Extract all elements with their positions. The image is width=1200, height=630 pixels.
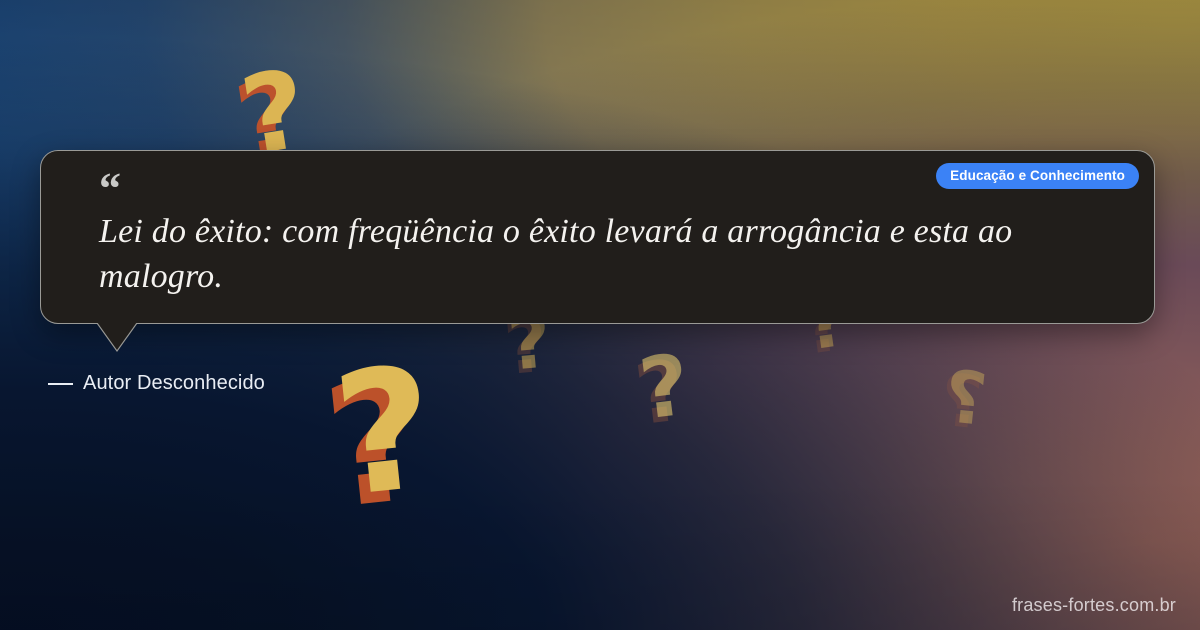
quote-card: Educação e Conhecimento “ Lei do êxito: … [40,150,1155,324]
author-dash-icon [48,383,73,385]
quote-text: Lei do êxito: com freqüência o êxito lev… [99,209,1124,299]
author-name: Autor Desconhecido [83,372,265,395]
site-watermark: frases-fortes.com.br [1012,595,1176,616]
quote-image-canvas: ? ? ? ? ? ? Educação e Conhecimento “ Le… [0,0,1200,630]
author-attribution: Autor Desconhecido [48,372,265,395]
category-badge[interactable]: Educação e Conhecimento [936,163,1139,189]
